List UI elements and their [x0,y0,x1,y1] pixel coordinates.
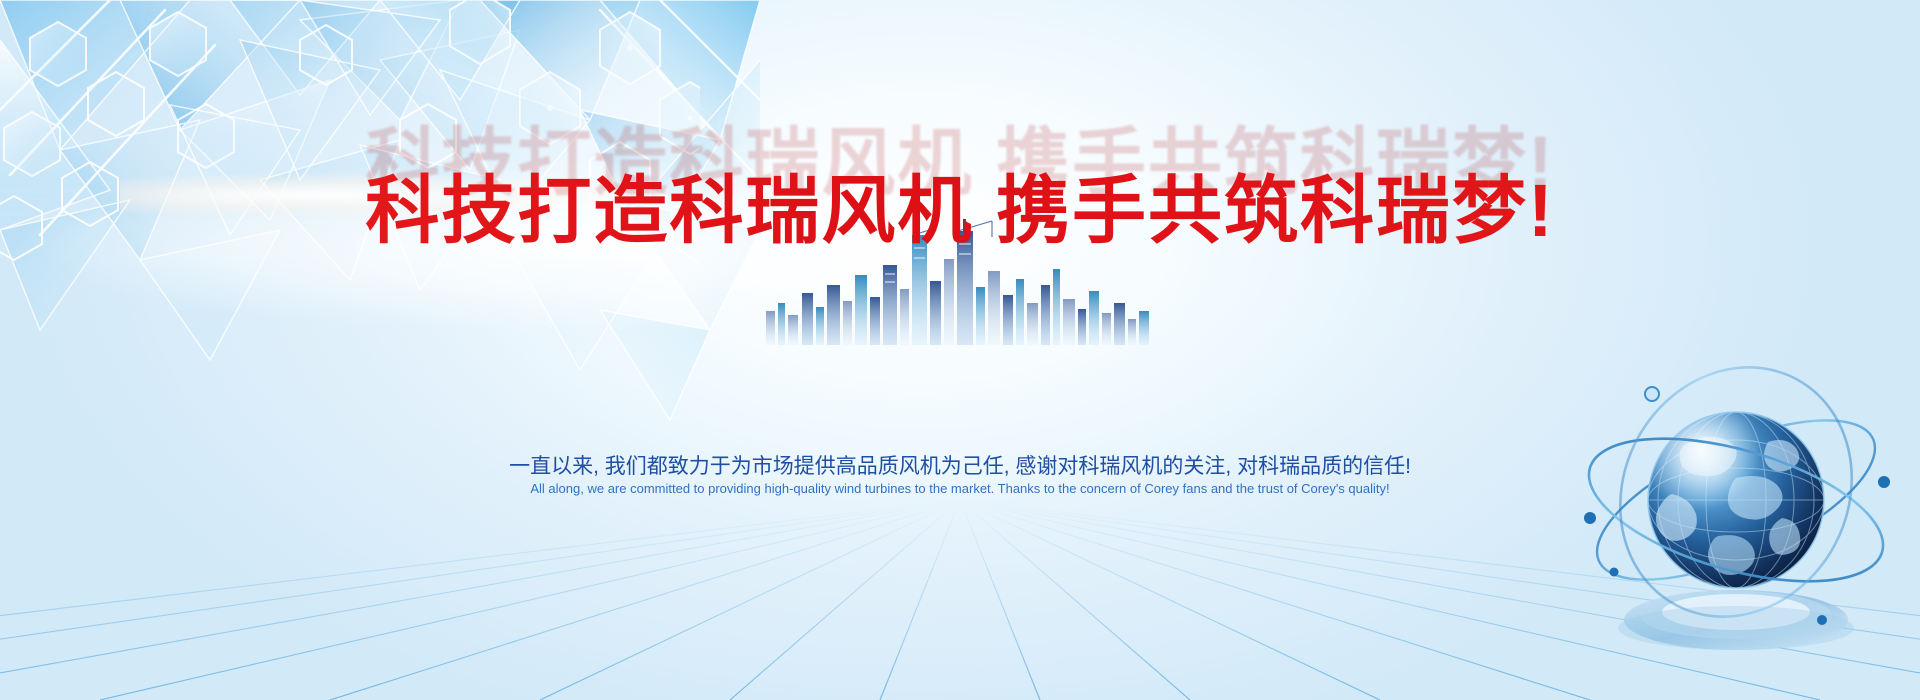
globe-orbit-illustration [1568,332,1898,672]
hero-banner: 科技打造科瑞风机 携手共筑科瑞梦! 科技打造科瑞风机 携手共筑科瑞梦! 一直以来… [0,0,1920,700]
banner-title: 科技打造科瑞风机 携手共筑科瑞梦! [0,172,1920,250]
